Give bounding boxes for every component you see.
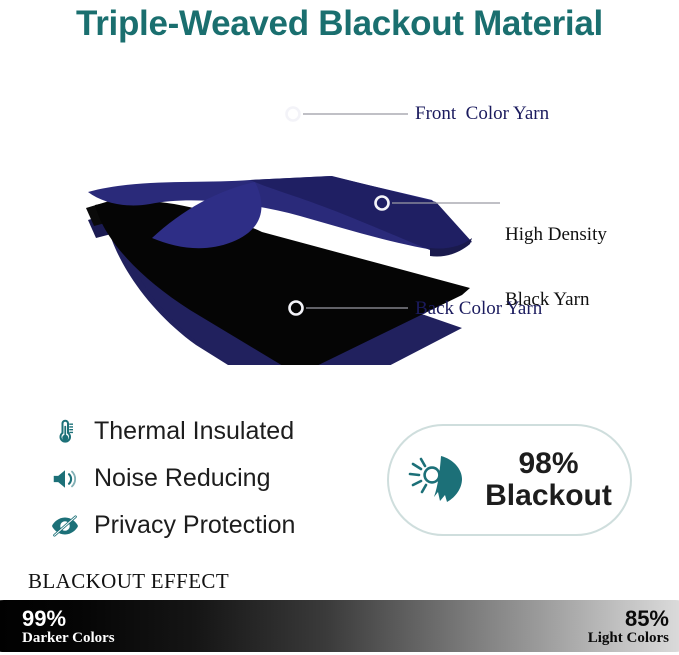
blackout-effect-light: 85% Light Colors <box>588 607 669 647</box>
blackout-effect-heading: BLACKOUT EFFECT <box>28 569 229 594</box>
layer-label-line-1: High Density <box>505 224 607 246</box>
feature-label: Noise Reducing <box>94 464 271 493</box>
sun-blocked-curtain-icon <box>407 448 473 512</box>
blackout-percent: 98% <box>485 448 612 480</box>
blackout-effect-bar: 99% Darker Colors 85% Light Colors <box>0 600 679 652</box>
darker-percent: 99% <box>22 607 115 630</box>
feature-item-noise-reducing: Noise Reducing <box>48 455 378 502</box>
eye-slash-icon <box>48 509 82 543</box>
blackout-word: Blackout <box>485 480 612 512</box>
light-percent: 85% <box>588 607 669 630</box>
light-caption: Light Colors <box>588 630 669 647</box>
feature-label: Privacy Protection <box>94 511 295 540</box>
layer-label-back-color-yarn: Back Color Yarn <box>415 298 542 320</box>
layer-label-front-color-yarn: Front Color Yarn <box>415 103 549 125</box>
feature-item-privacy-protection: Privacy Protection <box>48 502 378 549</box>
feature-item-thermal-insulated: Thermal Insulated <box>48 408 378 455</box>
feature-list: Thermal Insulated Noise Reducing Privacy… <box>48 408 378 549</box>
leader-dot-front <box>287 108 300 121</box>
feature-label: Thermal Insulated <box>94 417 294 446</box>
blackout-badge: 98% Blackout <box>387 424 632 536</box>
thermometer-icon <box>48 415 82 449</box>
speaker-sound-icon <box>48 462 82 496</box>
blackout-badge-text: 98% Blackout <box>485 448 612 513</box>
darker-caption: Darker Colors <box>22 630 115 647</box>
blackout-effect-darker: 99% Darker Colors <box>22 607 115 647</box>
page-title: Triple-Weaved Blackout Material <box>0 4 679 44</box>
